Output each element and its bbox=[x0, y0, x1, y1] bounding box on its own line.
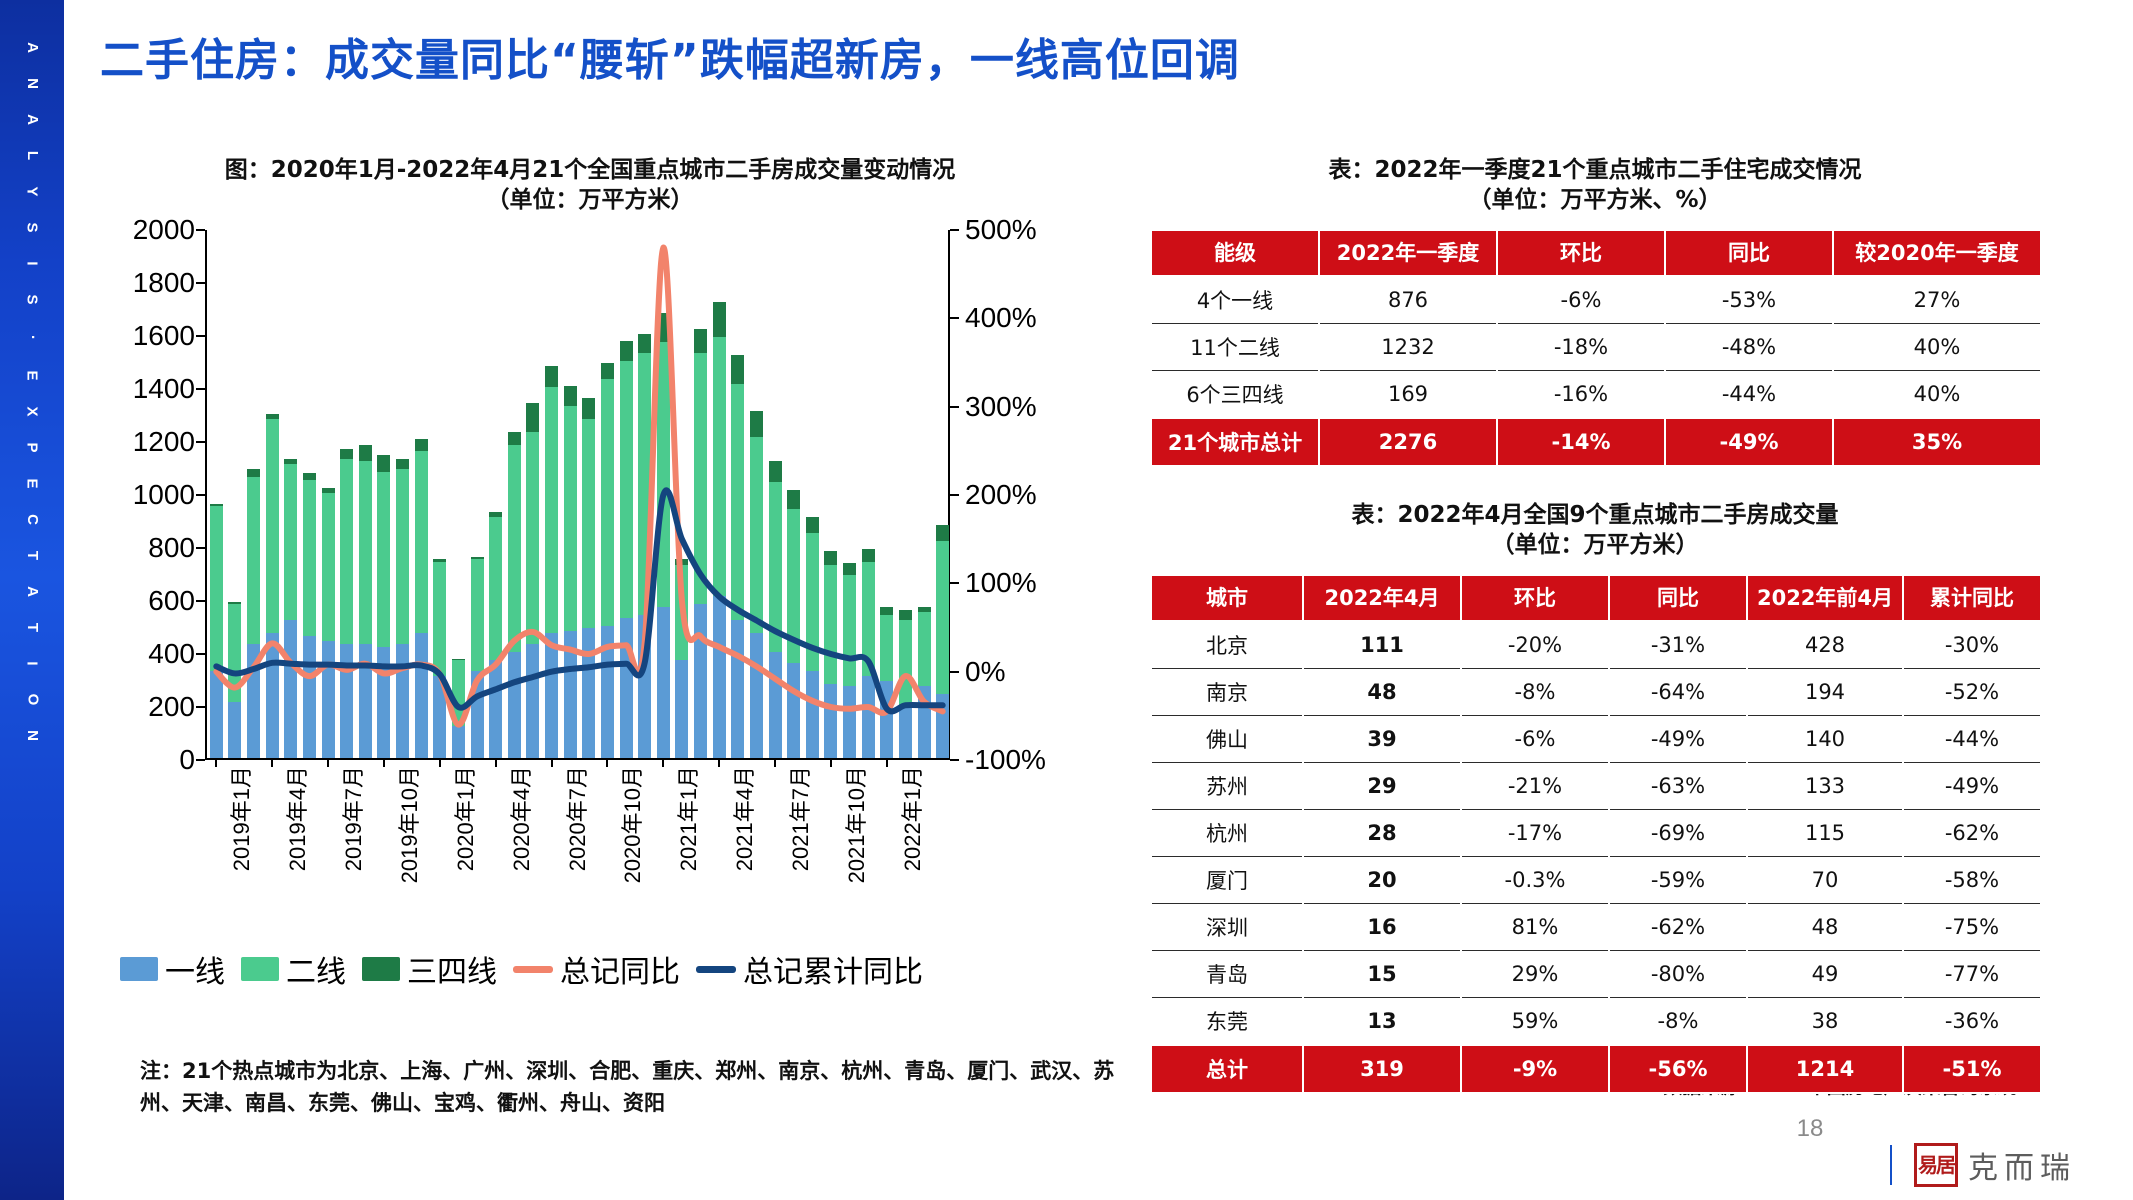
table-cell: 16 bbox=[1303, 904, 1461, 951]
legend-line-icon bbox=[513, 966, 553, 973]
table-header-cell: 累计同比 bbox=[1903, 575, 2041, 621]
table-total-cell: -51% bbox=[1903, 1045, 2041, 1093]
left-sidebar: ANALYSIS·EXPECTATION bbox=[0, 0, 64, 1200]
legend-label: 一线 bbox=[165, 947, 225, 991]
table-cell: -77% bbox=[1903, 951, 2041, 998]
y-tick-label-right: 300% bbox=[965, 391, 1037, 423]
table-row[interactable]: 4个一线876-6%-53%27% bbox=[1151, 276, 2041, 324]
table-cell: 1232 bbox=[1319, 324, 1497, 371]
y-tick-label: 200 bbox=[148, 691, 195, 723]
table-cell: -69% bbox=[1609, 810, 1747, 857]
table-cell: 青岛 bbox=[1151, 951, 1303, 998]
table-cell: 40% bbox=[1833, 371, 2041, 419]
y-tick-label: 1400 bbox=[133, 373, 195, 405]
table-row[interactable]: 苏州29-21%-63%133-49% bbox=[1151, 763, 2041, 810]
sidebar-letter: E bbox=[14, 478, 50, 489]
table-cell: -58% bbox=[1903, 857, 2041, 904]
table-cell: 11个二线 bbox=[1151, 324, 1319, 371]
table-cell: -49% bbox=[1903, 763, 2041, 810]
table-row[interactable]: 东莞1359%-8%38-36% bbox=[1151, 998, 2041, 1046]
table-cell: 佛山 bbox=[1151, 716, 1303, 763]
page-number: 18 bbox=[1780, 1115, 1840, 1143]
table-cell: -80% bbox=[1609, 951, 1747, 998]
table-cell: 140 bbox=[1747, 716, 1903, 763]
y-tick-label-right: 500% bbox=[965, 214, 1037, 246]
table-cell: -49% bbox=[1609, 716, 1747, 763]
table-total-cell: 35% bbox=[1833, 418, 2041, 466]
table-total-cell: 1214 bbox=[1747, 1045, 1903, 1093]
y-tick bbox=[196, 441, 205, 443]
page-title: 二手住房：成交量同比“腰斩”跌幅超新房，一线高位回调 bbox=[100, 30, 1700, 92]
table-cell: -44% bbox=[1903, 716, 2041, 763]
x-axis-labels: 2019年1月2019年4月2019年7月2019年10月2020年1月2020… bbox=[205, 766, 950, 946]
y-tick bbox=[196, 706, 205, 708]
table-cell: 28 bbox=[1303, 810, 1461, 857]
y-tick-label: 1600 bbox=[133, 320, 195, 352]
sidebar-letter: Y bbox=[14, 186, 50, 197]
y-tick-label-right: 0% bbox=[965, 656, 1005, 688]
table-cell: 49 bbox=[1747, 951, 1903, 998]
table-cell: -52% bbox=[1903, 669, 2041, 716]
table-total-cell: 319 bbox=[1303, 1045, 1461, 1093]
legend-swatch-icon bbox=[362, 957, 400, 981]
table-header-cell: 2022年前4月 bbox=[1747, 575, 1903, 621]
sidebar-letter: X bbox=[14, 406, 50, 417]
table-cell: -48% bbox=[1665, 324, 1833, 371]
x-tick-label: 2021年1月 bbox=[671, 766, 703, 871]
table-cell: 38 bbox=[1747, 998, 1903, 1046]
sidebar-letter: I bbox=[14, 661, 50, 666]
y-tick-label-right: 200% bbox=[965, 479, 1037, 511]
table1-subtitle: （单位：万平方米、%） bbox=[1150, 185, 2040, 215]
x-tick-label: 2021年7月 bbox=[783, 766, 815, 871]
y-tick bbox=[196, 547, 205, 549]
table-cell: -8% bbox=[1461, 669, 1609, 716]
table-cell: 北京 bbox=[1151, 621, 1303, 669]
table-total-row: 21个城市总计2276-14%-49%35% bbox=[1151, 418, 2041, 466]
x-tick-label: 2019年4月 bbox=[280, 766, 312, 871]
table-cell: 6个三四线 bbox=[1151, 371, 1319, 419]
table-cell: 南京 bbox=[1151, 669, 1303, 716]
legend-item[interactable]: 三四线 bbox=[362, 947, 497, 991]
sidebar-letter: T bbox=[14, 623, 50, 633]
legend-label: 二线 bbox=[286, 947, 346, 991]
table-cell: -18% bbox=[1497, 324, 1665, 371]
table-cell: -44% bbox=[1665, 371, 1833, 419]
table-header-cell: 环比 bbox=[1461, 575, 1609, 621]
x-tick-label: 2021年4月 bbox=[727, 766, 759, 871]
sidebar-letter: A bbox=[14, 114, 50, 126]
table-cell: 苏州 bbox=[1151, 763, 1303, 810]
chart-subtitle: （单位：万平方米） bbox=[90, 185, 1090, 215]
seal-icon: 易居 bbox=[1914, 1143, 1958, 1187]
table-header-cell: 同比 bbox=[1665, 230, 1833, 276]
table-total-cell: -56% bbox=[1609, 1045, 1747, 1093]
table1-title: 表：2022年一季度21个重点城市二手住宅成交情况 bbox=[1150, 155, 2040, 185]
table-row[interactable]: 11个二线1232-18%-48%40% bbox=[1151, 324, 2041, 371]
table-cell: -6% bbox=[1497, 276, 1665, 324]
y-tick-label: 400 bbox=[148, 638, 195, 670]
table-row[interactable]: 厦门20-0.3%-59%70-58% bbox=[1151, 857, 2041, 904]
sidebar-letter: N bbox=[14, 730, 50, 742]
legend-item[interactable]: 总记同比 bbox=[513, 947, 680, 991]
table-cell: -30% bbox=[1903, 621, 2041, 669]
sidebar-letter: T bbox=[14, 551, 50, 561]
table-cell: -59% bbox=[1609, 857, 1747, 904]
x-tick-label: 2021年10月 bbox=[839, 766, 871, 883]
legend-item[interactable]: 总记累计同比 bbox=[696, 947, 923, 991]
y-axis-left: 0200400600800100012001400160018002000 bbox=[90, 230, 195, 760]
legend-swatch-icon bbox=[241, 957, 279, 981]
sidebar-letter: L bbox=[14, 151, 50, 161]
table-cell: -21% bbox=[1461, 763, 1609, 810]
table-cell: -16% bbox=[1497, 371, 1665, 419]
table-cell: -36% bbox=[1903, 998, 2041, 1046]
table-row[interactable]: 南京48-8%-64%194-52% bbox=[1151, 669, 2041, 716]
table-header-cell: 较2020年一季度 bbox=[1833, 230, 2041, 276]
table-cell: 杭州 bbox=[1151, 810, 1303, 857]
table-cell: -6% bbox=[1461, 716, 1609, 763]
legend-label: 总记累计同比 bbox=[743, 947, 923, 991]
x-tick-label: 2019年10月 bbox=[392, 766, 424, 883]
legend-label: 总记同比 bbox=[560, 947, 680, 991]
legend-item[interactable]: 二线 bbox=[241, 947, 346, 991]
y-tick-label: 1200 bbox=[133, 426, 195, 458]
table-cell: -20% bbox=[1461, 621, 1609, 669]
chart-legend: 一线二线三四线总记同比总记累计同比 bbox=[120, 946, 1060, 992]
table-total-cell: 2276 bbox=[1319, 418, 1497, 466]
table-cell: -63% bbox=[1609, 763, 1747, 810]
sidebar-vertical-text: ANALYSIS·EXPECTATION bbox=[0, 30, 64, 1170]
table-quarterly-summary: 能级2022年一季度环比同比较2020年一季度 4个一线876-6%-53%27… bbox=[1150, 229, 2042, 467]
table-cell: 39 bbox=[1303, 716, 1461, 763]
x-tick-label: 2019年7月 bbox=[336, 766, 368, 871]
table-cell: 27% bbox=[1833, 276, 2041, 324]
table-cell: 29% bbox=[1461, 951, 1609, 998]
x-tick-label: 2020年7月 bbox=[560, 766, 592, 871]
sidebar-letter: A bbox=[14, 42, 50, 54]
table-cell: 48 bbox=[1747, 904, 1903, 951]
chart-plot-area: 0200400600800100012001400160018002000 -1… bbox=[90, 230, 1090, 1020]
table2-header-row: 城市2022年4月环比同比2022年前4月累计同比 bbox=[1151, 575, 2041, 621]
table-cell: 876 bbox=[1319, 276, 1497, 324]
y-tick-label: 1000 bbox=[133, 479, 195, 511]
table-row[interactable]: 佛山39-6%-49%140-44% bbox=[1151, 716, 2041, 763]
table-row[interactable]: 青岛1529%-80%49-77% bbox=[1151, 951, 2041, 998]
table-header-cell: 环比 bbox=[1497, 230, 1665, 276]
table-cell: 169 bbox=[1319, 371, 1497, 419]
legend-line-icon bbox=[696, 966, 736, 973]
table-cell: 40% bbox=[1833, 324, 2041, 371]
table-cell: -64% bbox=[1609, 669, 1747, 716]
logo-divider bbox=[1890, 1145, 1892, 1185]
table-cell: 70 bbox=[1747, 857, 1903, 904]
y-tick-label: 1800 bbox=[133, 267, 195, 299]
sidebar-letter: · bbox=[12, 335, 52, 341]
table2-title: 表：2022年4月全国9个重点城市二手房成交量 bbox=[1150, 500, 2040, 530]
table-header-cell: 城市 bbox=[1151, 575, 1303, 621]
sidebar-letter: A bbox=[14, 586, 50, 598]
sidebar-letter: S bbox=[14, 222, 50, 233]
table-cell: 428 bbox=[1747, 621, 1903, 669]
line-series-layer bbox=[207, 230, 952, 760]
table-total-cell: -14% bbox=[1497, 418, 1665, 466]
sidebar-letter: S bbox=[14, 294, 50, 305]
table-row[interactable]: 杭州28-17%-69%115-62% bbox=[1151, 810, 2041, 857]
table-row[interactable]: 北京111-20%-31%428-30% bbox=[1151, 621, 2041, 669]
table-cell: 133 bbox=[1747, 763, 1903, 810]
table-cell: -0.3% bbox=[1461, 857, 1609, 904]
table-header-cell: 能级 bbox=[1151, 230, 1319, 276]
brand-logo: 易居 克而瑞 bbox=[1890, 1136, 2133, 1194]
y-tick-label-right: 400% bbox=[965, 302, 1037, 334]
table-total-cell: 21个城市总计 bbox=[1151, 418, 1319, 466]
y-axis-right: -100%0%100%200%300%400%500% bbox=[965, 230, 1090, 760]
table-cell: 4个一线 bbox=[1151, 276, 1319, 324]
table-total-cell: 总计 bbox=[1151, 1045, 1303, 1093]
table1-header-row: 能级2022年一季度环比同比较2020年一季度 bbox=[1151, 230, 2041, 276]
sidebar-letter: E bbox=[14, 370, 50, 381]
table-header-cell: 2022年4月 bbox=[1303, 575, 1461, 621]
table-total-cell: -49% bbox=[1665, 418, 1833, 466]
sidebar-letter: O bbox=[14, 694, 50, 707]
y-tick-label: 0 bbox=[179, 744, 195, 776]
chart-footnote: 注：21个热点城市为北京、上海、广州、深圳、合肥、重庆、郑州、南京、杭州、青岛、… bbox=[140, 1055, 1140, 1119]
table-cell: -31% bbox=[1609, 621, 1747, 669]
table-cell: 20 bbox=[1303, 857, 1461, 904]
y-tick-label: 800 bbox=[148, 532, 195, 564]
table-cell: 厦门 bbox=[1151, 857, 1303, 904]
table-cell: 59% bbox=[1461, 998, 1609, 1046]
table-cell: 81% bbox=[1461, 904, 1609, 951]
table-cell: 48 bbox=[1303, 669, 1461, 716]
table2-body: 北京111-20%-31%428-30%南京48-8%-64%194-52%佛山… bbox=[1151, 621, 2041, 1093]
y-tick bbox=[196, 335, 205, 337]
y-tick bbox=[196, 229, 205, 231]
y-tick bbox=[196, 494, 205, 496]
y-tick bbox=[196, 759, 205, 761]
table-cell: 29 bbox=[1303, 763, 1461, 810]
table-row[interactable]: 深圳1681%-62%48-75% bbox=[1151, 904, 2041, 951]
table2-subtitle: （单位：万平方米） bbox=[1150, 530, 2040, 560]
table-cell: -62% bbox=[1903, 810, 2041, 857]
chart-block: 图：2020年1月-2022年4月21个全国重点城市二手房成交量变动情况 （单位… bbox=[90, 155, 1090, 1015]
table-total-cell: -9% bbox=[1461, 1045, 1609, 1093]
x-tick-label: 2020年1月 bbox=[448, 766, 480, 871]
legend-item[interactable]: 一线 bbox=[120, 947, 225, 991]
y-tick-label-right: 100% bbox=[965, 567, 1037, 599]
y-tick bbox=[196, 600, 205, 602]
plot-canvas bbox=[205, 230, 950, 760]
y-tick bbox=[196, 653, 205, 655]
table1-block: 表：2022年一季度21个重点城市二手住宅成交情况 （单位：万平方米、%） 能级… bbox=[1150, 155, 2040, 467]
legend-swatch-icon bbox=[120, 957, 158, 981]
table-cell: 115 bbox=[1747, 810, 1903, 857]
table-header-cell: 2022年一季度 bbox=[1319, 230, 1497, 276]
legend-label: 三四线 bbox=[407, 947, 497, 991]
table-cell: 194 bbox=[1747, 669, 1903, 716]
table-cell: -75% bbox=[1903, 904, 2041, 951]
table-header-cell: 同比 bbox=[1609, 575, 1747, 621]
table-total-row: 总计319-9%-56%1214-51% bbox=[1151, 1045, 2041, 1093]
y-tick bbox=[196, 388, 205, 390]
line-series bbox=[216, 490, 942, 711]
table1-body: 4个一线876-6%-53%27%11个二线1232-18%-48%40%6个三… bbox=[1151, 276, 2041, 466]
x-tick-label: 2022年1月 bbox=[895, 766, 927, 871]
table-cell: 111 bbox=[1303, 621, 1461, 669]
y-tick-label-right: -100% bbox=[965, 744, 1046, 776]
sidebar-letter: I bbox=[14, 261, 50, 266]
x-tick-label: 2020年4月 bbox=[504, 766, 536, 871]
x-tick-label: 2020年10月 bbox=[615, 766, 647, 883]
table-cell: 深圳 bbox=[1151, 904, 1303, 951]
table-cell: 东莞 bbox=[1151, 998, 1303, 1046]
y-tick-label: 600 bbox=[148, 585, 195, 617]
table-april-cities: 城市2022年4月环比同比2022年前4月累计同比 北京111-20%-31%4… bbox=[1150, 574, 2042, 1094]
y-tick bbox=[196, 282, 205, 284]
y-tick-label: 2000 bbox=[133, 214, 195, 246]
table-row[interactable]: 6个三四线169-16%-44%40% bbox=[1151, 371, 2041, 419]
table-cell: 15 bbox=[1303, 951, 1461, 998]
x-tick-label: 2019年1月 bbox=[224, 766, 256, 871]
sidebar-letter: C bbox=[14, 514, 50, 526]
table2-block: 表：2022年4月全国9个重点城市二手房成交量 （单位：万平方米） 城市2022… bbox=[1150, 500, 2040, 1094]
chart-title: 图：2020年1月-2022年4月21个全国重点城市二手房成交量变动情况 bbox=[90, 155, 1090, 185]
table-cell: -17% bbox=[1461, 810, 1609, 857]
table-cell: -62% bbox=[1609, 904, 1747, 951]
table-cell: 13 bbox=[1303, 998, 1461, 1046]
sidebar-letter: N bbox=[14, 78, 50, 90]
table-cell: -53% bbox=[1665, 276, 1833, 324]
table-cell: -8% bbox=[1609, 998, 1747, 1046]
sidebar-letter: P bbox=[14, 442, 50, 453]
logo-text: 克而瑞 bbox=[1968, 1143, 2076, 1187]
